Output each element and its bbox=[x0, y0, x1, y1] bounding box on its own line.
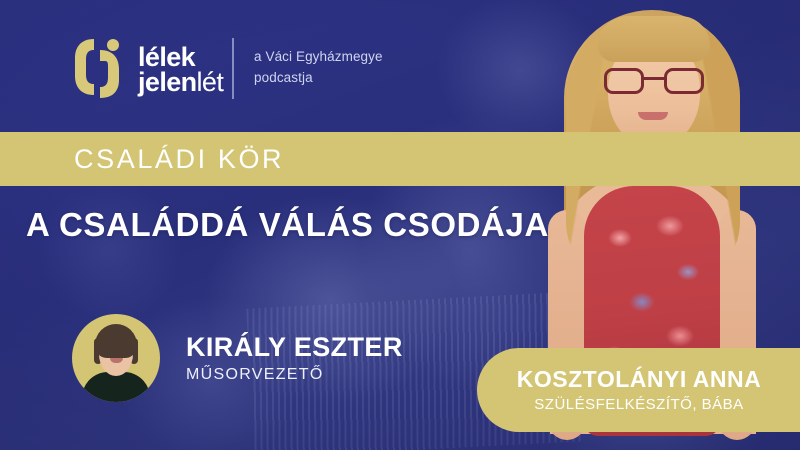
guest-name: KOSZTOLÁNYI ANNA bbox=[517, 367, 761, 392]
podcast-episode-cover: lélek jelenlét a Váci Egyházmegye podcas… bbox=[0, 0, 800, 450]
brand-logo[interactable]: lélek jelenlét bbox=[68, 36, 223, 98]
host-text-block: KIRÁLY ESZTER MŰSORVEZETŐ bbox=[186, 332, 403, 384]
brand-name-line2: jelenlét bbox=[138, 70, 223, 95]
guest-role: SZÜLÉSFELKÉSZÍTŐ, BÁBA bbox=[534, 396, 743, 413]
lelek-jelenlet-bracket-logo-icon bbox=[68, 36, 124, 98]
brand-name-line2-strong: jelen bbox=[138, 67, 197, 97]
guest-name-plate: KOSZTOLÁNYI ANNA SZÜLÉSFELKÉSZÍTŐ, BÁBA bbox=[477, 348, 800, 432]
host-name: KIRÁLY ESZTER bbox=[186, 332, 403, 362]
guest-glasses-right-lens bbox=[664, 68, 704, 94]
guest-glasses-left-lens bbox=[604, 68, 644, 94]
guest-glasses-bridge bbox=[644, 77, 664, 80]
host-portrait-avatar bbox=[72, 314, 160, 402]
host-avatar-hair bbox=[95, 324, 137, 358]
header-divider bbox=[232, 38, 234, 99]
guest-glasses-icon bbox=[604, 68, 704, 94]
host-role: MŰSORVEZETŐ bbox=[186, 366, 403, 384]
host-credit: KIRÁLY ESZTER MŰSORVEZETŐ bbox=[72, 314, 403, 402]
guest-hair-fringe bbox=[598, 16, 710, 62]
host-avatar-body bbox=[82, 372, 150, 402]
brand-wordmark: lélek jelenlét bbox=[138, 39, 223, 95]
episode-title: A CSALÁDDÁ VÁLÁS CSODÁJA bbox=[26, 206, 549, 244]
guest-mouth bbox=[638, 112, 668, 120]
brand-tagline: a Váci Egyházmegye podcastja bbox=[254, 47, 434, 88]
section-title: CSALÁDI KÖR bbox=[0, 132, 800, 186]
brand-name-line2-thin: lét bbox=[197, 67, 224, 97]
